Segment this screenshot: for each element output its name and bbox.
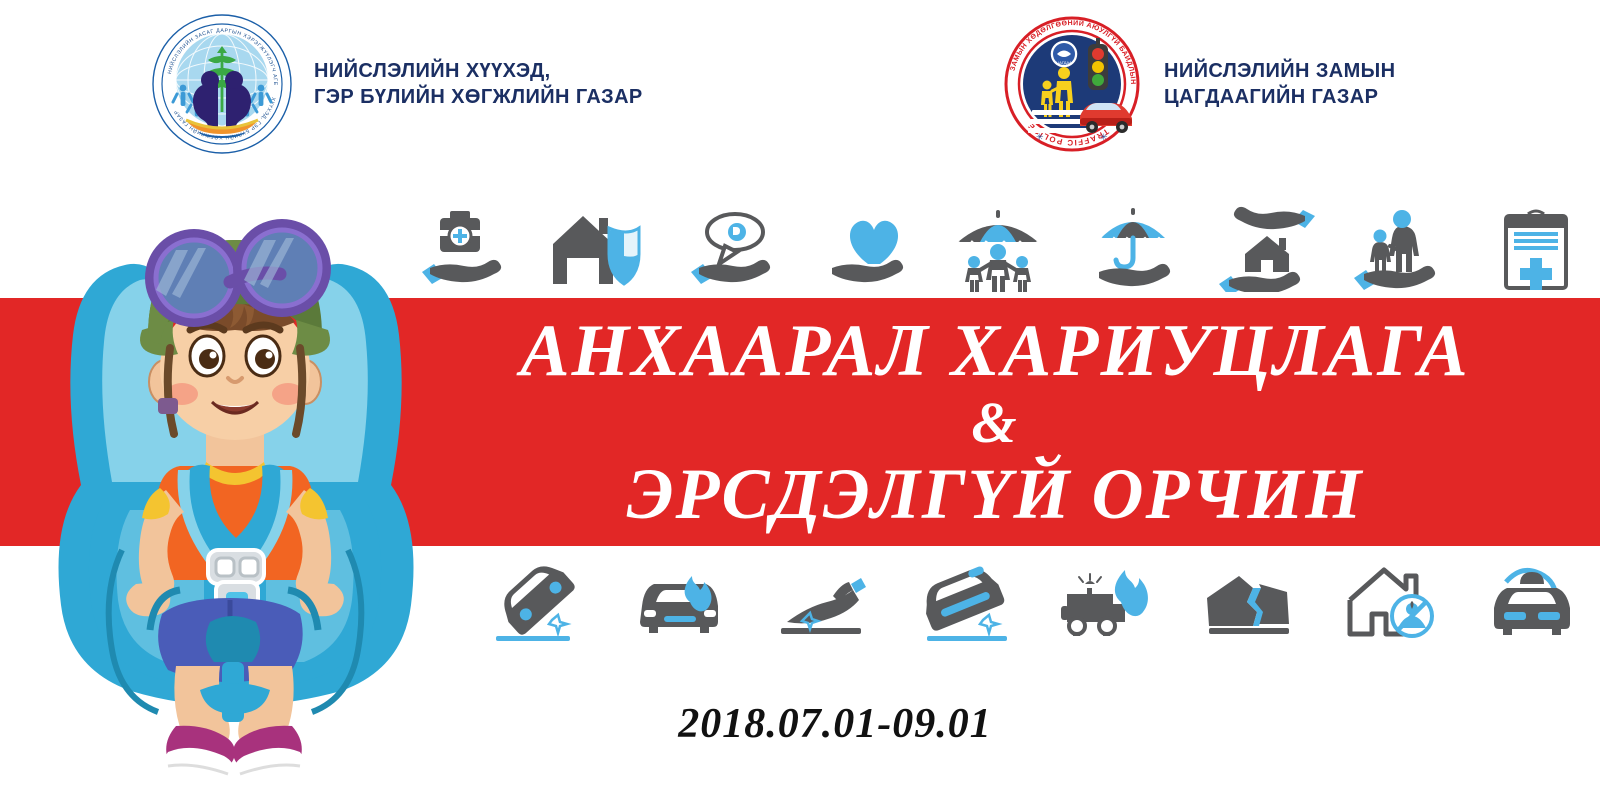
hand-umbrella-icon	[1081, 200, 1185, 292]
icon-row-protection	[408, 196, 1588, 292]
car-rollover-icon	[486, 552, 590, 644]
org-block-family-development: НИЙСЛЭЛИЙН ЗАСАГ ДАРГЫН ХЭРЭГЖҮҮЛЭГЧ АГЕ…	[152, 14, 643, 154]
org-2-line-1: НИЙСЛЭЛИЙН ЗАМЫН	[1164, 60, 1395, 82]
police-car-icon	[1482, 552, 1586, 644]
hands-house-icon	[1215, 200, 1319, 292]
campaign-date: 2018.07.01-09.01	[0, 700, 1600, 748]
icon-row-hazards	[486, 552, 1586, 644]
org-block-traffic-police: ЗАМЫН ХӨДӨЛГӨӨНИЙ АЮУЛГҮЙ БАЙДЛЫН ТӨЛӨӨ …	[1002, 14, 1395, 154]
hand-heart-icon	[812, 200, 916, 292]
car-fire-icon	[628, 552, 732, 644]
hand-speech-bubble-icon	[677, 200, 781, 292]
plane-crash-icon	[771, 552, 875, 644]
svg-text:✳: ✳	[1100, 132, 1108, 142]
house-shield-icon	[543, 200, 647, 292]
campaign-date-text: 2018.07.01-09.01	[678, 700, 992, 748]
org-1-line-2: ГЭР БҮЛИЙН ХӨГЖЛИЙН ГАЗАР	[314, 84, 643, 110]
child-in-car-seat-illustration	[30, 170, 440, 790]
house-no-person-icon	[1340, 552, 1444, 644]
svg-text:ЦАГДАА: ЦАГДАА	[1056, 60, 1072, 65]
org-1-line-1: НИЙСЛЭЛИЙН ХҮҮХЭД,	[314, 60, 551, 82]
org-2-name: НИЙСЛЭЛИЙН ЗАМЫН ЦАГДААГИЙН ГАЗАР	[1164, 58, 1395, 110]
header: НИЙСЛЭЛИЙН ЗАСАГ ДАРГЫН ХЭРЭГЖҮҮЛЭГЧ АГЕ…	[0, 0, 1600, 175]
org-2-line-2: ЦАГДААГИЙН ГАЗАР	[1164, 84, 1395, 110]
family-umbrella-icon	[946, 200, 1050, 292]
car-overturned-icon	[913, 552, 1017, 644]
org-1-name: НИЙСЛЭЛИЙН ХҮҮХЭД, ГЭР БҮЛИЙН ХӨГЖЛИЙН Г…	[314, 58, 643, 110]
svg-text:✳: ✳	[1036, 132, 1044, 142]
medical-clipboard-icon	[1484, 200, 1588, 292]
family-development-agency-seal: НИЙСЛЭЛИЙН ЗАСАГ ДАРГЫН ХЭРЭГЖҮҮЛЭГЧ АГЕ…	[152, 14, 292, 154]
fire-truck-icon	[1055, 552, 1159, 644]
traffic-police-seal: ЗАМЫН ХӨДӨЛГӨӨНИЙ АЮУЛГҮЙ БАЙДЛЫН ТӨЛӨӨ …	[1002, 14, 1142, 154]
poster-root: НИЙСЛЭЛИЙН ЗАСАГ ДАРГЫН ХЭРЭГЖҮҮЛЭГЧ АГЕ…	[0, 0, 1600, 800]
earthquake-house-icon	[1197, 552, 1301, 644]
hand-mother-child-icon	[1350, 200, 1454, 292]
